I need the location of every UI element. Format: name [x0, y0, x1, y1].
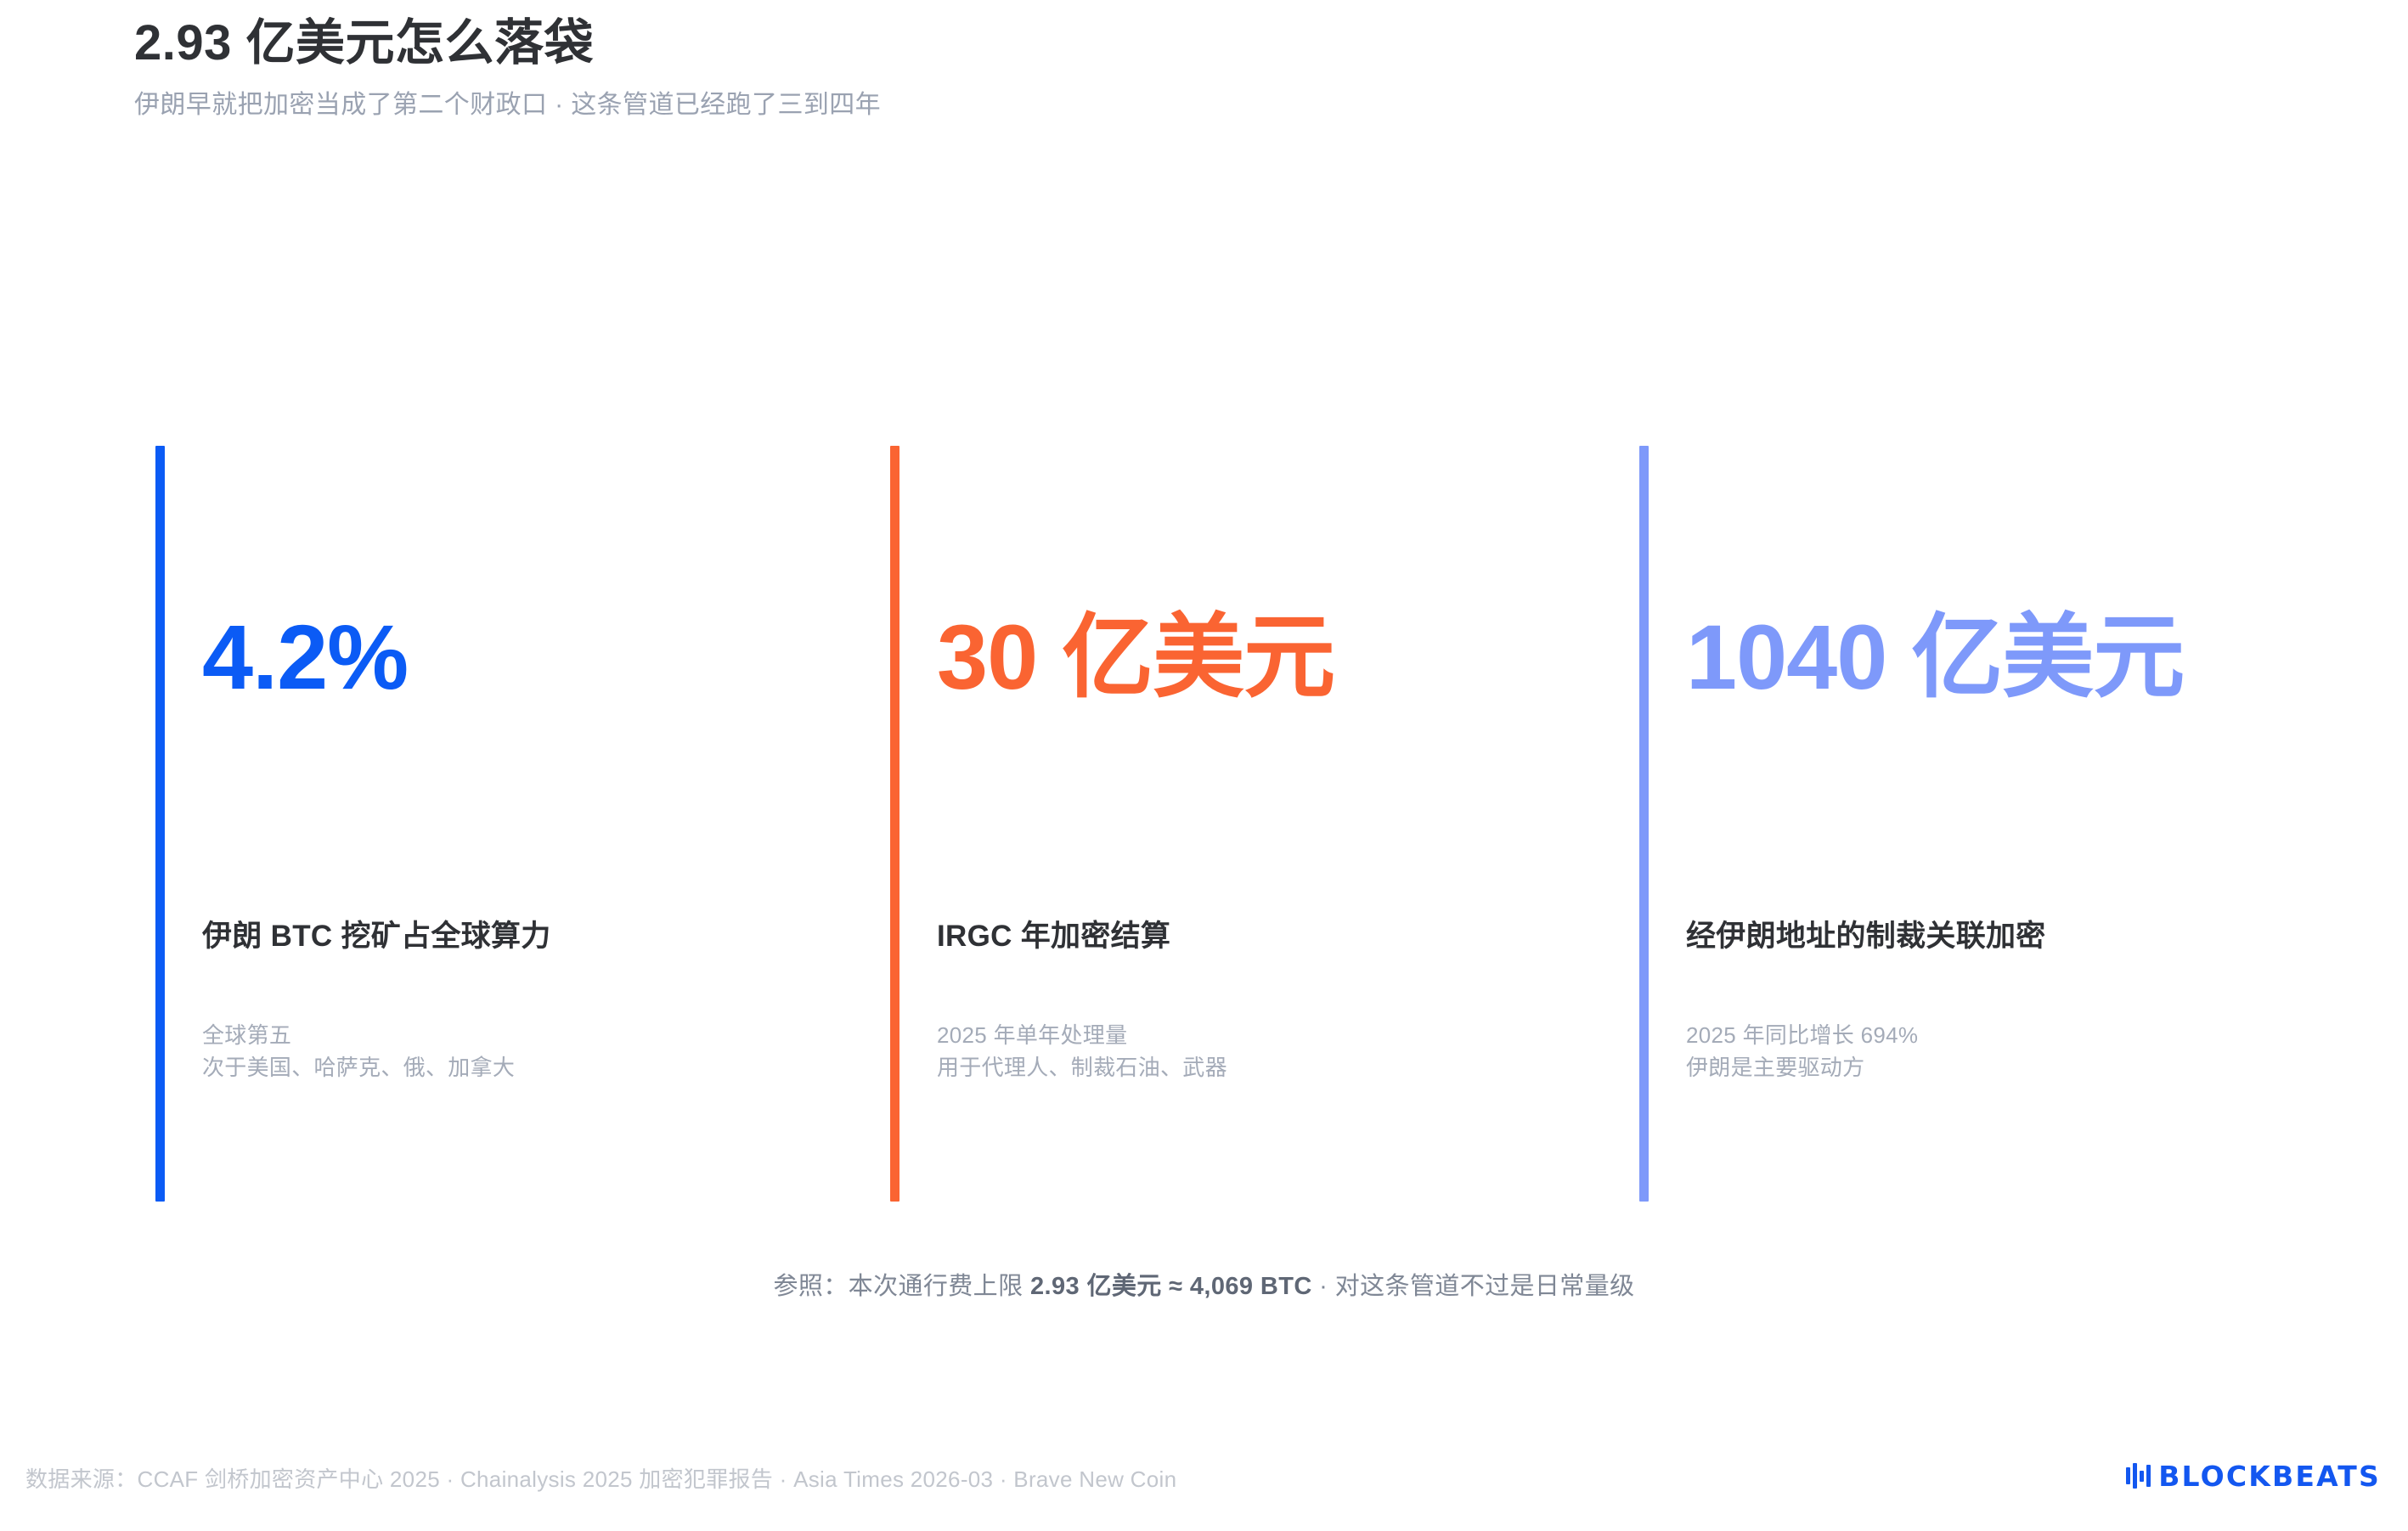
- stat-notes: 全球第五 次于美国、哈萨克、俄、加拿大: [202, 1019, 515, 1084]
- stat-label: 经伊朗地址的制裁关联加密: [1686, 917, 2046, 956]
- header: 2.93 亿美元怎么落袋 伊朗早就把加密当成了第二个财政口 · 这条管道已经跑了…: [134, 15, 2173, 123]
- accent-bar-periwinkle: [1639, 446, 1649, 1202]
- stats-row: 4.2% 伊朗 BTC 挖矿占全球算力 全球第五 次于美国、哈萨克、俄、加拿大 …: [0, 446, 2408, 1202]
- stat-note-line-2: 次于美国、哈萨克、俄、加拿大: [202, 1051, 515, 1084]
- stat-card-irgc-settlement: 30 亿美元 IRGC 年加密结算 2025 年单年处理量 用于代理人、制裁石油…: [890, 446, 1595, 1202]
- stat-notes: 2025 年同比增长 694% 伊朗是主要驱动方: [1686, 1019, 1918, 1084]
- page-title: 2.93 亿美元怎么落袋: [134, 15, 2173, 72]
- stat-value: 1040 亿美元: [1686, 611, 2184, 703]
- accent-bar-blue: [155, 446, 165, 1202]
- stat-note-line-1: 全球第五: [202, 1019, 515, 1051]
- footnote-prefix: 参照：本次通行费上限: [773, 1273, 1029, 1300]
- stat-value: 4.2%: [202, 611, 408, 703]
- stat-label: 伊朗 BTC 挖矿占全球算力: [202, 917, 551, 956]
- stat-note-line-1: 2025 年单年处理量: [937, 1019, 1227, 1051]
- stat-label: IRGC 年加密结算: [937, 917, 1170, 956]
- footnote-suffix: · 对这条管道不过是日常量级: [1312, 1273, 1635, 1300]
- stat-card-btc-hashrate: 4.2% 伊朗 BTC 挖矿占全球算力 全球第五 次于美国、哈萨克、俄、加拿大: [155, 446, 860, 1202]
- stat-value: 30 亿美元: [937, 611, 1334, 703]
- footnote-emphasis: 2.93 亿美元 ≈ 4,069 BTC: [1030, 1273, 1312, 1300]
- stat-card-sanctioned-crypto: 1040 亿美元 经伊朗地址的制裁关联加密 2025 年同比增长 694% 伊朗…: [1639, 446, 2378, 1202]
- stat-notes: 2025 年单年处理量 用于代理人、制裁石油、武器: [937, 1019, 1227, 1084]
- footnote-reference: 参照：本次通行费上限 2.93 亿美元 ≈ 4,069 BTC · 对这条管道不…: [0, 1269, 2408, 1304]
- brand-logo: BLOCKBEATS: [2126, 1456, 2381, 1495]
- data-source-note: 数据来源：CCAF 剑桥加密资产中心 2025 · Chainalysis 20…: [25, 1462, 1176, 1494]
- stat-note-line-2: 伊朗是主要驱动方: [1686, 1051, 1918, 1084]
- accent-bar-orange: [890, 446, 899, 1202]
- page-subtitle: 伊朗早就把加密当成了第二个财政口 · 这条管道已经跑了三到四年: [134, 87, 2173, 123]
- equalizer-bars-icon: [2126, 1461, 2151, 1490]
- stat-note-line-2: 用于代理人、制裁石油、武器: [937, 1051, 1227, 1084]
- stat-body: 4.2% 伊朗 BTC 挖矿占全球算力 全球第五 次于美国、哈萨克、俄、加拿大: [202, 446, 860, 1202]
- stat-note-line-1: 2025 年同比增长 694%: [1686, 1019, 1918, 1051]
- stat-body: 30 亿美元 IRGC 年加密结算 2025 年单年处理量 用于代理人、制裁石油…: [937, 446, 1595, 1202]
- brand-wordmark: BLOCKBEATS: [2158, 1462, 2381, 1490]
- stat-body: 1040 亿美元 经伊朗地址的制裁关联加密 2025 年同比增长 694% 伊朗…: [1686, 446, 2378, 1202]
